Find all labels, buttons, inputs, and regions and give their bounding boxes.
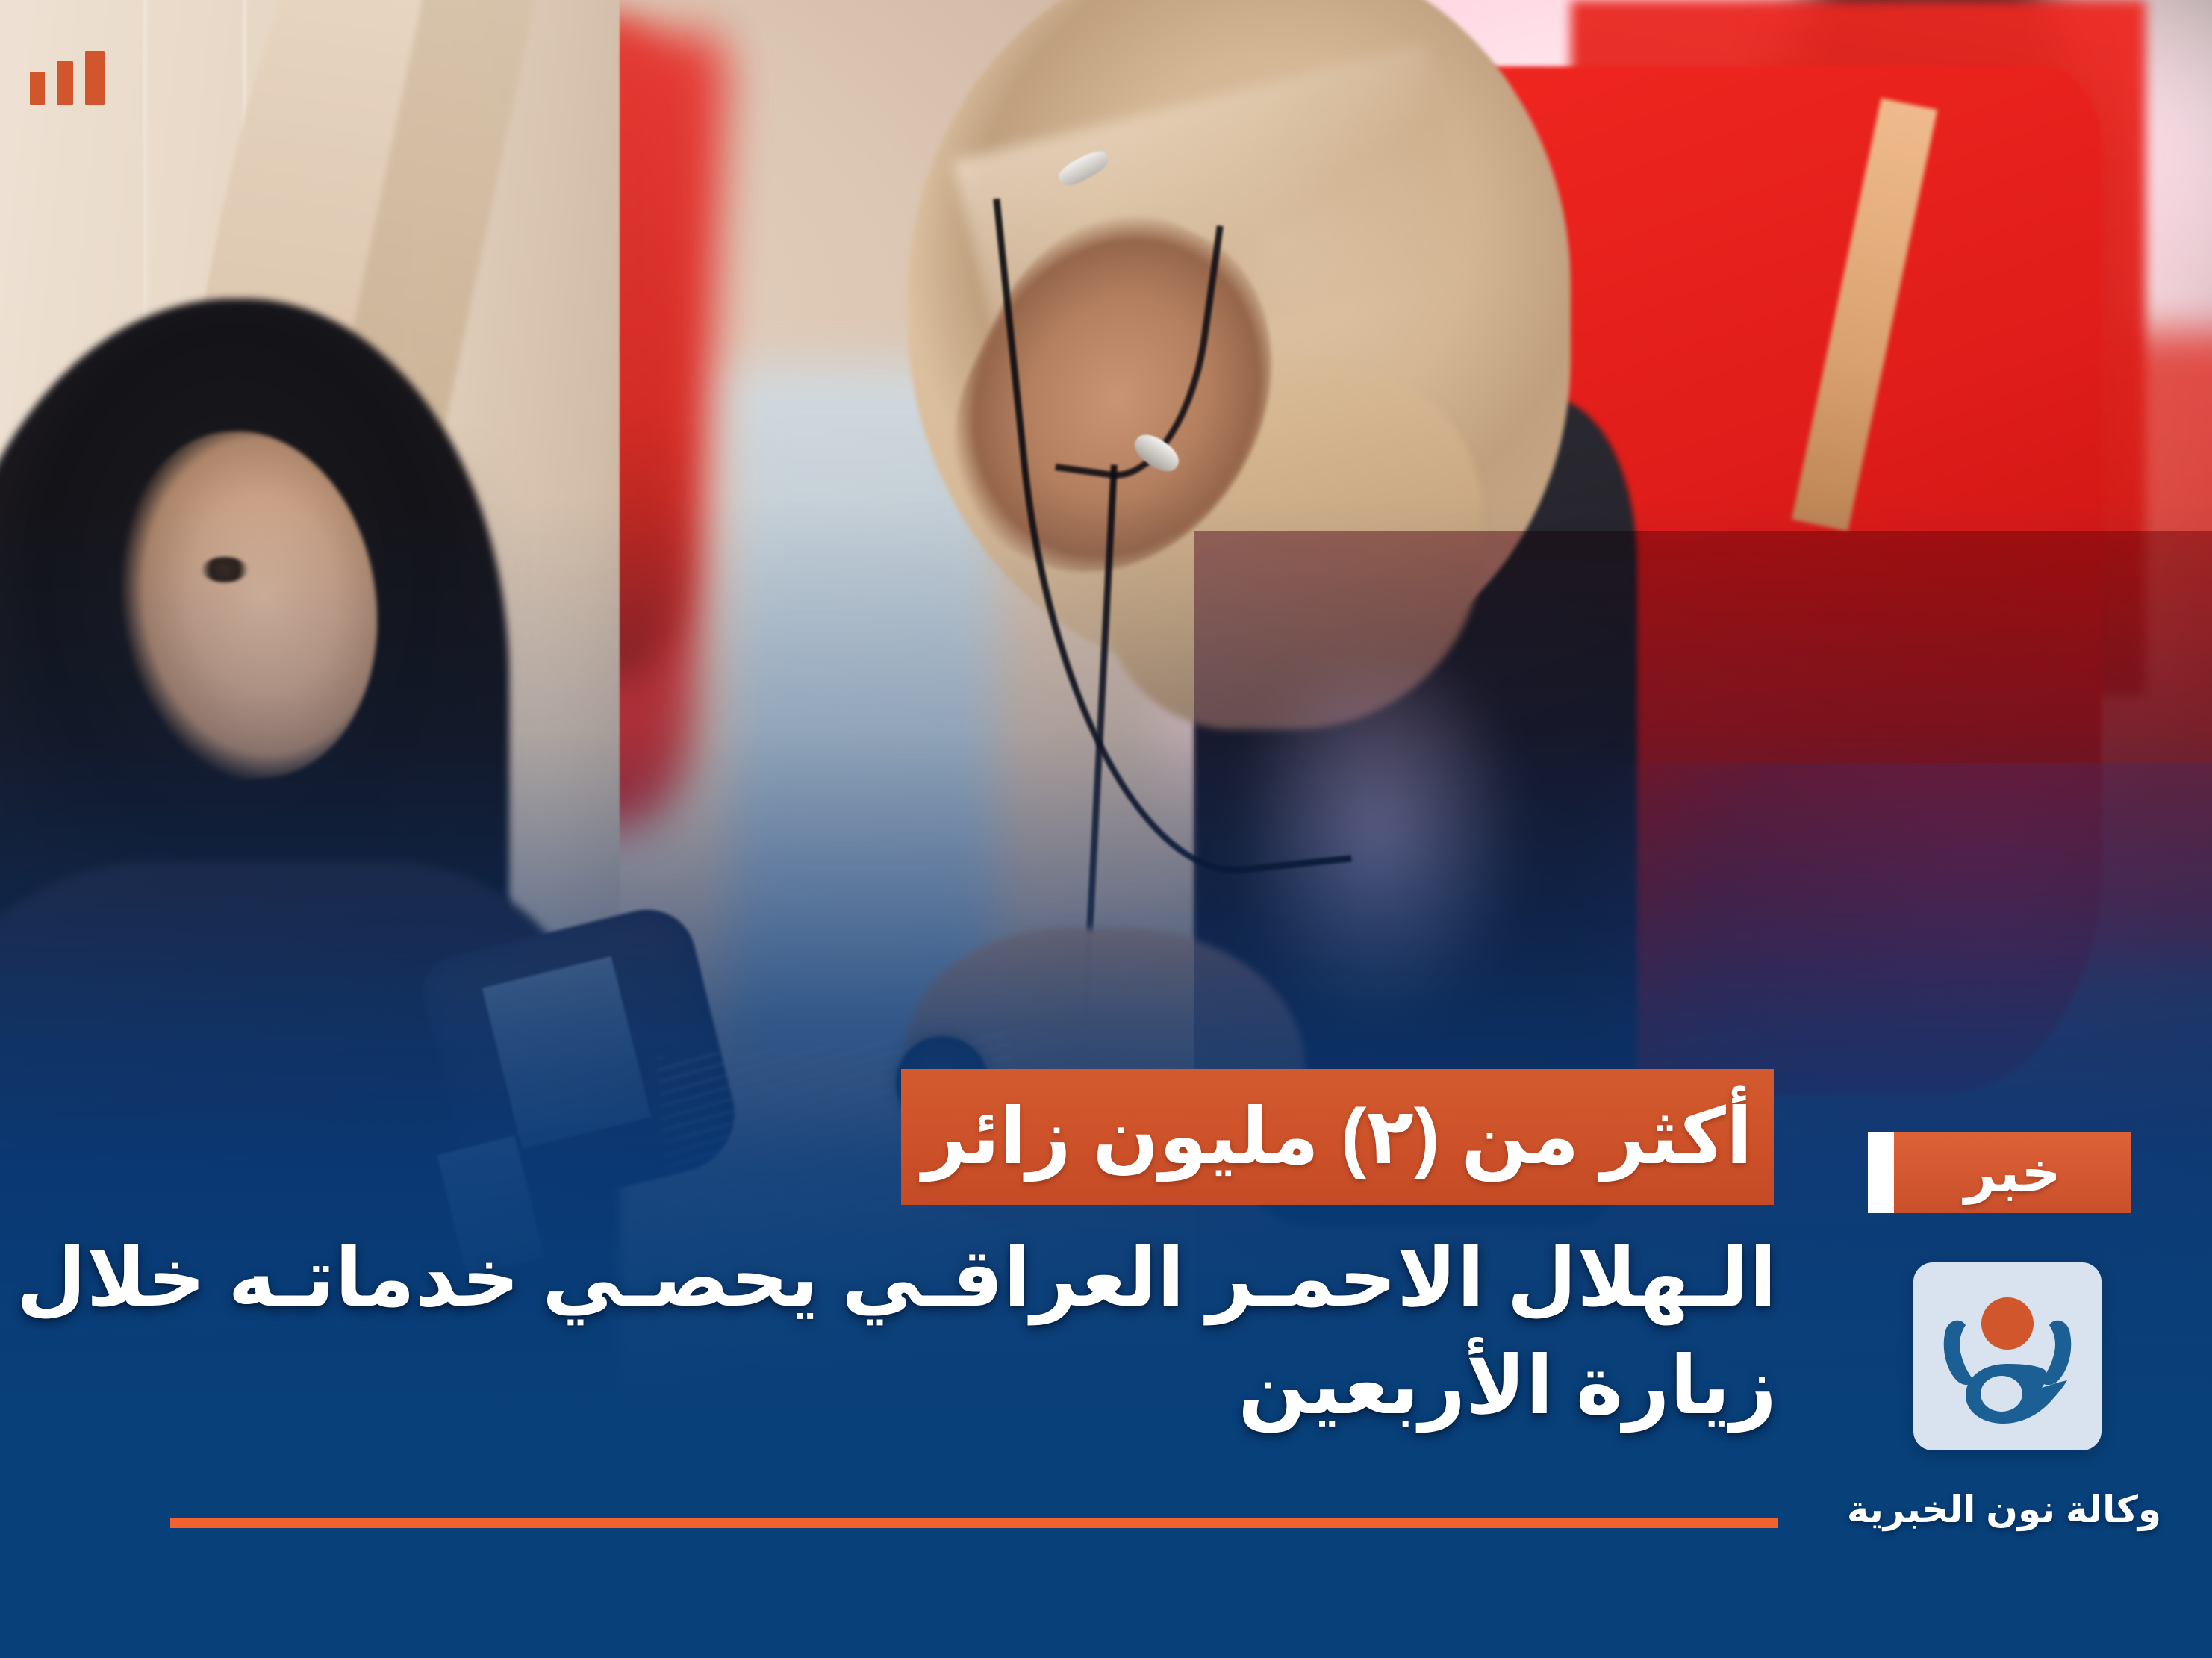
- bar-2-icon: [57, 61, 73, 105]
- kicker-text: أكثر من (٢) مليون زائر: [922, 1098, 1752, 1176]
- news-badge-label: خبر: [1964, 1145, 2061, 1200]
- bar-1-icon: [85, 51, 105, 105]
- bar-3-icon: [30, 72, 45, 105]
- news-badge: خبر: [1894, 1132, 2131, 1213]
- three-bars-mark-icon: [30, 51, 105, 105]
- headline-line-1: الـهلال الاحمـر العراقـي يحصـي خدماتـه خ…: [105, 1224, 1777, 1332]
- noon-agency-logo: [1913, 1262, 2102, 1450]
- headline: الـهلال الاحمـر العراقـي يحصـي خدماتـه خ…: [105, 1224, 1777, 1439]
- news-badge-white-tick: [1868, 1132, 1894, 1213]
- headline-underline-rule: [170, 1518, 1778, 1528]
- agency-name: وكالة نون الخبرية: [1854, 1491, 2161, 1528]
- headline-line-2: زيارة الأربعين: [105, 1332, 1777, 1439]
- kicker-badge: أكثر من (٢) مليون زائر: [901, 1069, 1774, 1205]
- news-graphic-card: أكثر من (٢) مليون زائر الـهلال الاحمـر ا…: [0, 0, 2212, 1658]
- brand-column: خبر وكالة نون الخبرية: [1854, 1132, 2131, 1528]
